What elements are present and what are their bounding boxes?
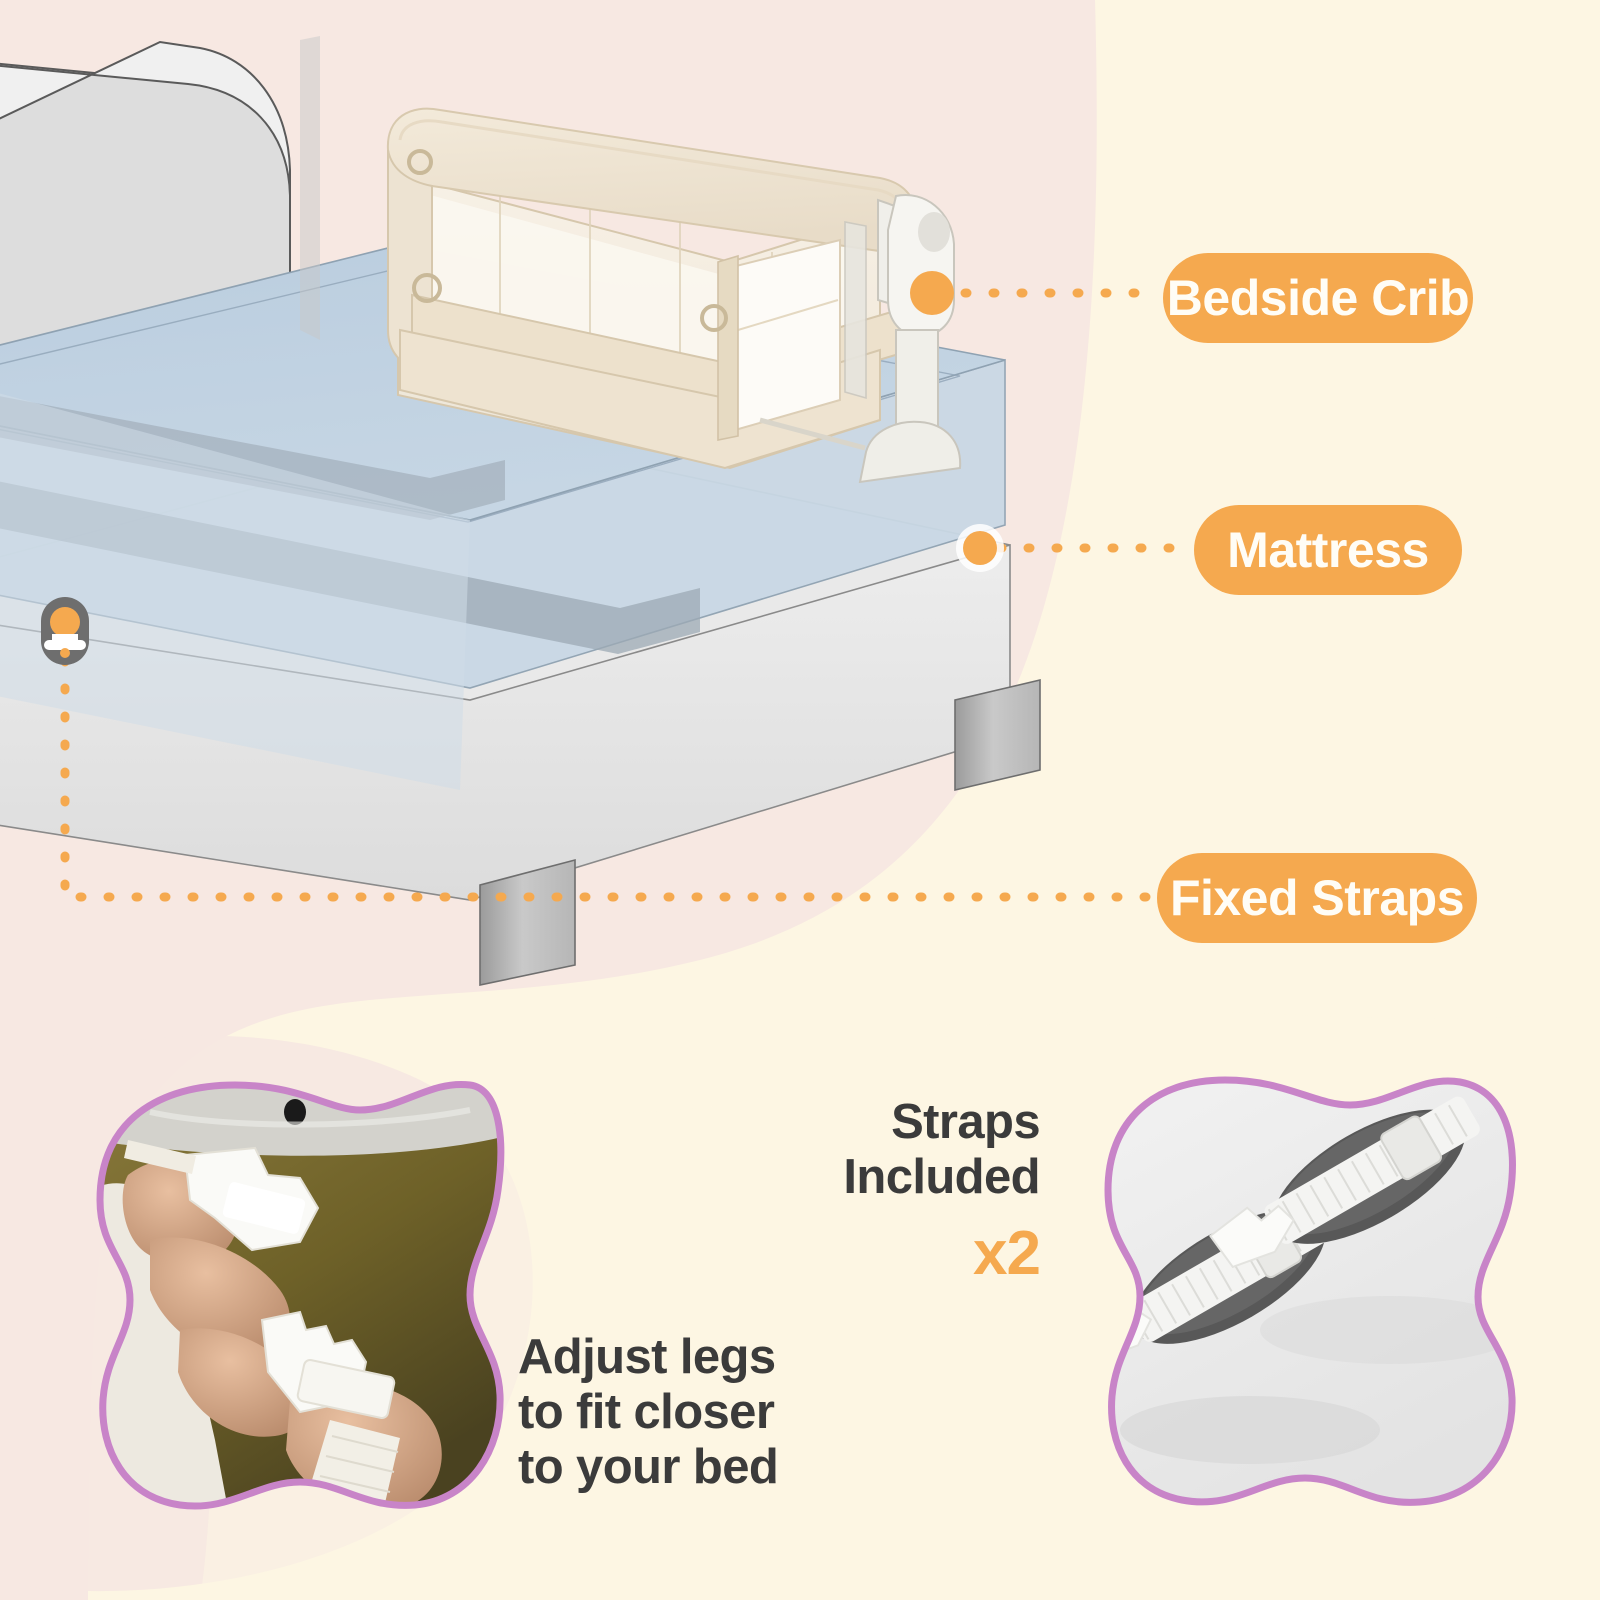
callout-pill-bedside-crib[interactable]: Bedside Crib (1163, 253, 1473, 343)
crib-hinge-hole (918, 212, 950, 252)
straps-included-line-1: Straps (790, 1095, 1040, 1150)
photo-adjust-legs (90, 1075, 510, 1520)
callout-label-bedside-crib: Bedside Crib (1167, 269, 1469, 327)
bed-leg-right (955, 680, 1040, 790)
adjust-legs-caption: Adjust legs to fit closer to your bed (518, 1330, 778, 1495)
callout-label-mattress: Mattress (1227, 521, 1429, 579)
crib-hinge-head (888, 195, 954, 336)
straps-included-caption: Straps Included (790, 1095, 1040, 1205)
callout-pill-fixed-straps[interactable]: Fixed Straps (1157, 853, 1477, 943)
strap-buckle-icon (41, 597, 89, 665)
adjust-legs-line-1: Adjust legs (518, 1330, 778, 1385)
callout-label-fixed-straps: Fixed Straps (1170, 869, 1464, 927)
adjust-legs-line-3: to your bed (518, 1440, 778, 1495)
infographic-canvas: Bedside Crib Mattress Fixed Straps Adjus… (0, 0, 1600, 1600)
adjust-legs-line-2: to fit closer (518, 1385, 778, 1440)
straps-included-line-2: Included (790, 1150, 1040, 1205)
background-shapes (0, 0, 1600, 1600)
crib-strut (845, 222, 866, 398)
straps-quantity-badge: x2 (790, 1218, 1040, 1289)
crib-fabric-divider (718, 256, 738, 440)
headboard-inner-edge (300, 36, 320, 340)
crib-anchor-dot (910, 271, 954, 315)
crib-side-mesh (728, 240, 840, 432)
callout-pill-mattress[interactable]: Mattress (1194, 505, 1462, 595)
mattress-anchor-dot (963, 531, 997, 565)
